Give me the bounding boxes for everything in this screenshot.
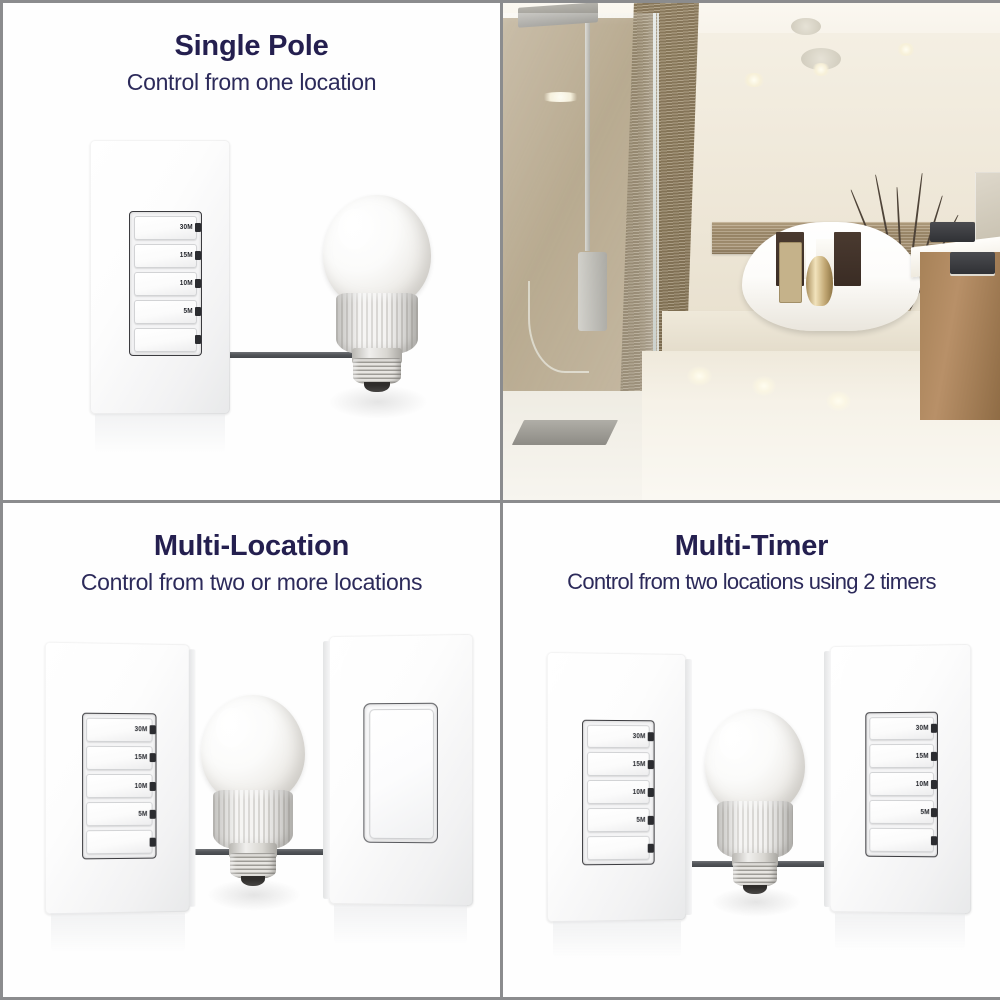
timer-switch-left[interactable]: 30M 15M 10M 5M <box>547 652 686 922</box>
timer-button-30m[interactable]: 30M <box>86 718 152 742</box>
led-indicator <box>647 816 653 825</box>
timer-button-label: 30M <box>135 726 151 733</box>
led-indicator <box>150 782 156 791</box>
timer-keypad[interactable]: 30M 15M 10M 5M <box>129 211 202 356</box>
plate-side-edge <box>685 659 692 914</box>
bulb-globe <box>705 709 805 816</box>
folded-dark-towel <box>950 252 995 274</box>
bulb-reflection <box>328 385 428 419</box>
led-indicator <box>647 844 653 853</box>
glass-edge <box>653 13 656 401</box>
led-indicator <box>150 810 156 819</box>
panel-multi-location: Multi-Location Control from two or more … <box>3 503 500 997</box>
timer-button-30m[interactable]: 30M <box>587 724 650 748</box>
recessed-light <box>811 63 831 76</box>
timer-button-5m[interactable]: 5M <box>587 808 650 832</box>
led-indicator <box>195 223 201 232</box>
brown-towel <box>834 232 861 287</box>
floor-step-light <box>826 391 851 411</box>
plate-side-edge <box>189 650 196 907</box>
timer-button-label: 15M <box>135 755 151 762</box>
light-bulb-2 <box>201 695 305 885</box>
recessed-light <box>896 43 916 56</box>
timer-keypad[interactable]: 30M 15M 10M 5M <box>865 712 938 857</box>
led-indicator <box>195 335 201 344</box>
led-indicator <box>150 726 156 735</box>
multi-timer-heading: Multi-Timer Control from two locations u… <box>503 531 1000 595</box>
timer-button-off[interactable] <box>134 328 198 352</box>
timer-keypad[interactable]: 30M 15M 10M 5M <box>82 713 157 860</box>
timer-button-label: 10M <box>180 280 196 287</box>
timer-button-30m[interactable]: 30M <box>869 716 933 740</box>
led-indicator <box>195 251 201 260</box>
shower-glass-panel <box>503 13 659 401</box>
timer-button-label: 5M <box>636 817 648 824</box>
rocker-paddle[interactable] <box>369 708 434 839</box>
led-indicator <box>195 279 201 288</box>
bulb-reflection <box>711 887 801 917</box>
multi-location-heading: Multi-Location Control from two or more … <box>3 531 500 596</box>
single-pole-subtitle: Control from one location <box>3 69 500 97</box>
bulb-screw-base <box>353 358 401 385</box>
timer-button-off[interactable] <box>587 836 650 860</box>
switch-reflection <box>95 414 225 454</box>
led-indicator <box>647 760 653 769</box>
floor-step-light <box>752 376 777 396</box>
bulb-screw-base <box>733 862 777 888</box>
infographic-board: Single Pole Control from one location 30… <box>0 0 1000 1000</box>
timer-button-off[interactable] <box>86 830 152 855</box>
page-title: Multi-Location <box>3 531 500 563</box>
led-indicator <box>647 732 653 741</box>
timer-button-15m[interactable]: 15M <box>134 244 198 268</box>
timer-button-label: 10M <box>135 783 151 790</box>
timer-button-15m[interactable]: 15M <box>86 746 152 770</box>
bathroom-image <box>503 3 1000 500</box>
led-indicator <box>931 780 937 789</box>
led-indicator <box>931 752 937 761</box>
rocker-switch-right[interactable] <box>329 634 473 906</box>
timer-button-5m[interactable]: 5M <box>86 802 152 826</box>
led-indicator <box>150 838 156 847</box>
switch-reflection <box>51 913 185 953</box>
timer-button-10m[interactable]: 10M <box>869 772 933 796</box>
led-indicator <box>931 724 937 733</box>
timer-button-label: 15M <box>633 761 649 768</box>
led-indicator <box>647 788 653 797</box>
wood-vanity-cabinet <box>920 252 1000 421</box>
single-pole-diagram: 30M 15M 10M 5M <box>3 113 500 500</box>
timer-button-label: 15M <box>916 753 932 760</box>
rocker-frame[interactable] <box>363 702 438 843</box>
timer-button-5m[interactable]: 5M <box>134 300 198 324</box>
multi-timer-subtitle: Control from two locations using 2 timer… <box>503 569 1000 595</box>
led-indicator <box>195 307 201 316</box>
page-title: Multi-Timer <box>503 531 1000 563</box>
bulb-heatsink <box>213 790 292 849</box>
timer-button-label: 30M <box>180 224 196 231</box>
switch-reflection <box>553 921 681 959</box>
led-indicator <box>931 808 937 817</box>
gold-vase <box>806 256 833 306</box>
light-bulb-1 <box>323 195 431 391</box>
gold-lantern <box>779 242 802 304</box>
timer-switch-1[interactable]: 30M 15M 10M 5M <box>90 140 230 414</box>
timer-button-30m[interactable]: 30M <box>134 216 198 240</box>
timer-button-10m[interactable]: 10M <box>587 780 650 804</box>
plate-side-edge <box>824 651 831 906</box>
bulb-reflection <box>207 879 301 911</box>
bulb-heatsink <box>717 801 793 858</box>
light-bulb-3 <box>705 709 805 893</box>
plate-side-edge <box>323 641 330 898</box>
panel-multi-timer: Multi-Timer Control from two locations u… <box>503 503 1000 997</box>
switch-reflection <box>334 905 467 945</box>
timer-button-10m[interactable]: 10M <box>86 774 152 798</box>
timer-button-off[interactable] <box>869 828 933 852</box>
bulb-heatsink <box>336 293 418 354</box>
timer-keypad[interactable]: 30M 15M 10M 5M <box>582 720 654 865</box>
timer-button-label: 30M <box>633 733 649 740</box>
switch-reflection <box>835 913 965 951</box>
linear-drain <box>512 420 619 445</box>
timer-button-label: 10M <box>633 789 649 796</box>
panel-bathroom-photo <box>503 3 1000 500</box>
timer-switch-left[interactable]: 30M 15M 10M 5M <box>45 642 190 915</box>
shower-tray <box>503 391 647 500</box>
multi-location-subtitle: Control from two or more locations <box>3 569 500 597</box>
page-title: Single Pole <box>3 31 500 63</box>
led-indicator <box>931 836 937 845</box>
multi-location-diagram: 30M 15M 10M 5M <box>3 613 500 997</box>
folded-dark-towel <box>930 222 975 242</box>
bulb-globe <box>323 195 431 309</box>
panel-single-pole: Single Pole Control from one location 30… <box>3 3 500 500</box>
bulb-globe <box>201 695 305 805</box>
led-indicator <box>150 754 156 763</box>
timer-button-label: 30M <box>916 725 932 732</box>
timer-button-15m[interactable]: 15M <box>869 744 933 768</box>
bulb-screw-base <box>230 853 276 880</box>
floor-step-light <box>687 366 712 386</box>
timer-button-label: 15M <box>180 252 196 259</box>
single-pole-heading: Single Pole Control from one location <box>3 31 500 96</box>
timer-switch-right[interactable]: 30M 15M 10M 5M <box>830 644 971 914</box>
timer-button-label: 10M <box>916 781 932 788</box>
timer-button-15m[interactable]: 15M <box>587 752 650 776</box>
multi-timer-diagram: 30M 15M 10M 5M <box>503 613 1000 997</box>
timer-button-5m[interactable]: 5M <box>869 800 933 824</box>
timer-button-10m[interactable]: 10M <box>134 272 198 296</box>
